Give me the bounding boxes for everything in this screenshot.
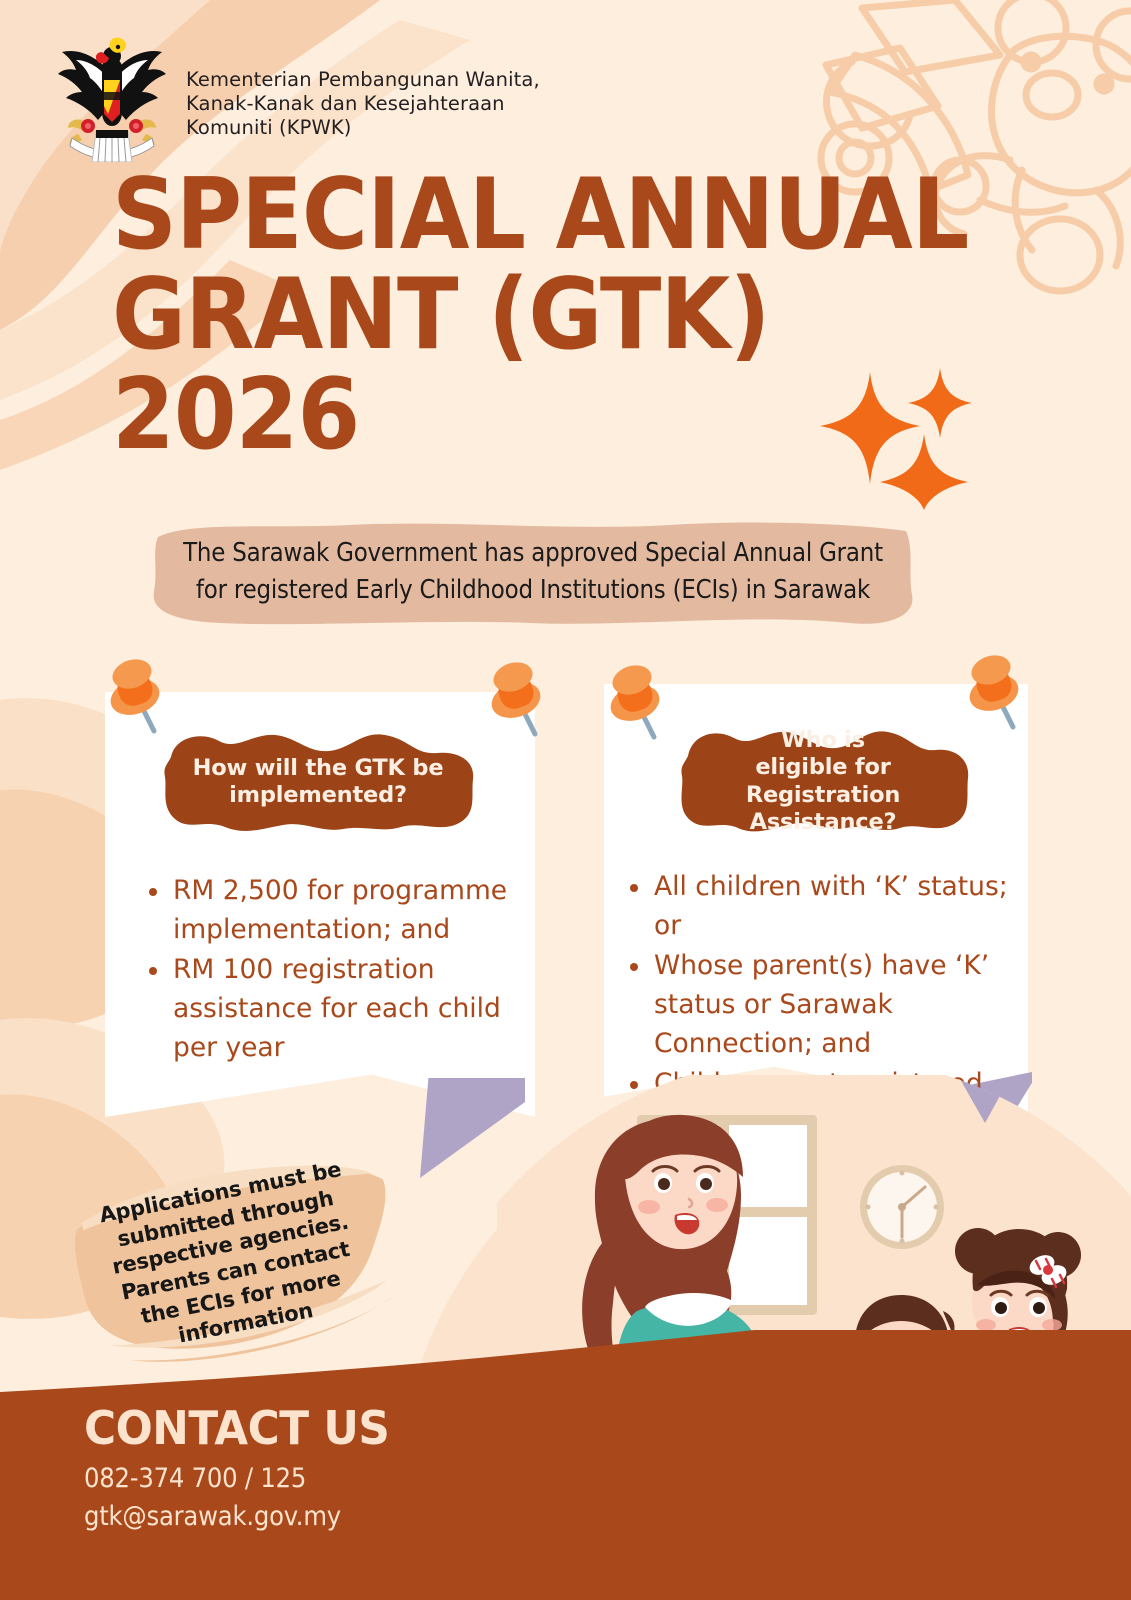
- heading-line-2: eligible for Registration: [746, 754, 900, 807]
- pushpin-icon: [485, 662, 551, 740]
- list-item: RM 100 registration assistance for each …: [143, 951, 518, 1067]
- heading-line-2: implemented?: [229, 782, 407, 808]
- subtitle-banner: The Sarawak Government has approved Spec…: [150, 515, 916, 635]
- ministry-line-3: Komuniti (KPWK): [186, 116, 540, 140]
- footer-contact: CONTACT US 082-374 700 / 125 gtk@sarawak…: [0, 1330, 1131, 1600]
- card-heading-text-implementation: How will the GTK be implemented?: [153, 727, 483, 837]
- list-item: Whose parent(s) have ‘K’ status or Saraw…: [624, 947, 1014, 1063]
- pushpin-icon: [604, 665, 670, 743]
- list-item: RM 2,500 for programme implementation; a…: [143, 872, 518, 949]
- ministry-line-2: Kanak-Kanak dan Kesejahteraan: [186, 92, 540, 116]
- contact-phone[interactable]: 082-374 700 / 125: [84, 1461, 405, 1497]
- banner-line-2: for registered Early Childhood Instituti…: [176, 572, 890, 609]
- poster-root: Kementerian Pembangunan Wanita, Kanak-Ka…: [0, 0, 1131, 1600]
- ministry-line-1: Kementerian Pembangunan Wanita,: [186, 68, 540, 92]
- header: Kementerian Pembangunan Wanita, Kanak-Ka…: [52, 34, 540, 162]
- sarawak-coat-of-arms-icon: [52, 34, 172, 162]
- ministry-name: Kementerian Pembangunan Wanita, Kanak-Ka…: [186, 34, 540, 139]
- contact-title: CONTACT US: [84, 1405, 389, 1451]
- sparkle-stars-icon: [812, 360, 992, 510]
- banner-line-1: The Sarawak Government has approved Spec…: [176, 535, 890, 572]
- card-heading-implementation: How will the GTK be implemented?: [153, 727, 483, 837]
- card-heading-text-eligibility: Who is eligible for Registration Assista…: [672, 724, 974, 839]
- card-heading-eligibility: Who is eligible for Registration Assista…: [672, 724, 974, 839]
- title-line-2: GRANT (GTK): [112, 268, 940, 362]
- contact-email[interactable]: gtk@sarawak.gov.my: [84, 1499, 405, 1535]
- pushpin-icon: [104, 659, 170, 737]
- heading-line-1: Who is: [781, 727, 865, 753]
- title-line-1: SPECIAL ANNUAL: [112, 168, 940, 262]
- bullet-list-implementation: RM 2,500 for programme implementation; a…: [143, 872, 518, 1069]
- heading-line-1: How will the GTK be: [193, 755, 444, 781]
- list-item: All children with ‘K’ status; or: [624, 868, 1014, 945]
- banner-text: The Sarawak Government has approved Spec…: [150, 515, 916, 609]
- contact-block: CONTACT US 082-374 700 / 125 gtk@sarawak…: [84, 1405, 405, 1535]
- heading-line-3: Assistance?: [750, 809, 897, 835]
- pushpin-icon: [963, 655, 1029, 733]
